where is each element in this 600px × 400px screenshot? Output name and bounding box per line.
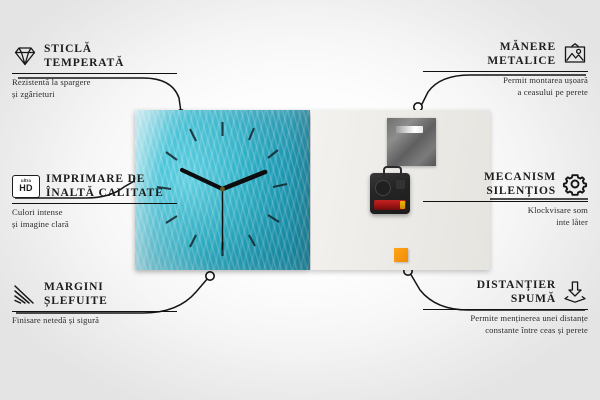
feature-title: MARGINIȘLEFUITE xyxy=(44,280,108,308)
mechanism-dial xyxy=(375,180,391,196)
press-down-arrow-icon xyxy=(562,280,588,304)
feature-desc: Culori intenseși imagine clară xyxy=(12,207,177,230)
feature-title: IMPRIMARE DEÎNALTĂ CALITATE xyxy=(46,172,164,200)
feature-callout-sticla-temperata: STICLĂTEMPERATĂ Rezistentă la spargereși… xyxy=(12,42,177,100)
feature-desc: Klockvisare sominte låter xyxy=(423,205,588,228)
diamond-icon xyxy=(12,44,38,68)
divider xyxy=(423,309,588,310)
ultra-hd-icon: ultra HD xyxy=(12,175,40,198)
feature-callout-imprimare: ultra HD IMPRIMARE DEÎNALTĂ CALITATE Cul… xyxy=(12,172,177,230)
mechanism-button xyxy=(396,180,405,189)
feature-desc: Finisare netedă și sigură xyxy=(12,315,177,326)
clock-hour-hand xyxy=(223,172,266,189)
gear-icon xyxy=(562,172,588,196)
divider xyxy=(423,201,588,202)
feature-desc: Rezistentă la spargereși zgârieturi xyxy=(12,77,177,100)
connector-dot-margini xyxy=(206,272,214,280)
divider xyxy=(423,71,588,72)
ultra-hd-large-label: HD xyxy=(19,184,33,193)
divider xyxy=(12,73,177,74)
feature-callout-distantier: DISTANȚIERSPUMĂ Permite menținerea unei … xyxy=(423,278,588,336)
infographic-canvas: STICLĂTEMPERATĂ Rezistentă la spargereși… xyxy=(0,0,600,400)
feature-title: STICLĂTEMPERATĂ xyxy=(44,42,124,70)
feature-callout-margini: MARGINIȘLEFUITE Finisare netedă și sigur… xyxy=(12,280,177,327)
clock-center-pin xyxy=(220,187,225,192)
hanger-slot xyxy=(396,126,423,133)
battery-terminal xyxy=(400,201,405,209)
metal-hanger-bracket xyxy=(387,118,436,166)
divider xyxy=(12,311,177,312)
clock-movement-mechanism xyxy=(370,173,410,214)
feature-desc: Permit montarea ușoarăa ceasului pe pere… xyxy=(423,75,588,98)
feature-title: MECANISMSILENȚIOS xyxy=(484,170,556,198)
feature-title: DISTANȚIERSPUMĂ xyxy=(477,278,556,306)
picture-hanger-icon xyxy=(562,42,588,66)
mechanism-handle xyxy=(383,166,402,177)
feature-callout-manere: MĂNEREMETALICE Permit montarea ușoarăa c… xyxy=(423,40,588,98)
feature-title: MĂNEREMETALICE xyxy=(487,40,556,68)
beveled-edge-icon xyxy=(12,282,38,306)
foam-spacer xyxy=(394,248,408,262)
divider xyxy=(12,203,177,204)
feature-callout-mecanism: MECANISMSILENȚIOS Klockvisare sominte lå… xyxy=(423,170,588,228)
battery xyxy=(374,200,406,210)
feature-desc: Permite menținerea unei distanțeconstant… xyxy=(423,313,588,336)
clock-minute-hand xyxy=(182,170,223,189)
